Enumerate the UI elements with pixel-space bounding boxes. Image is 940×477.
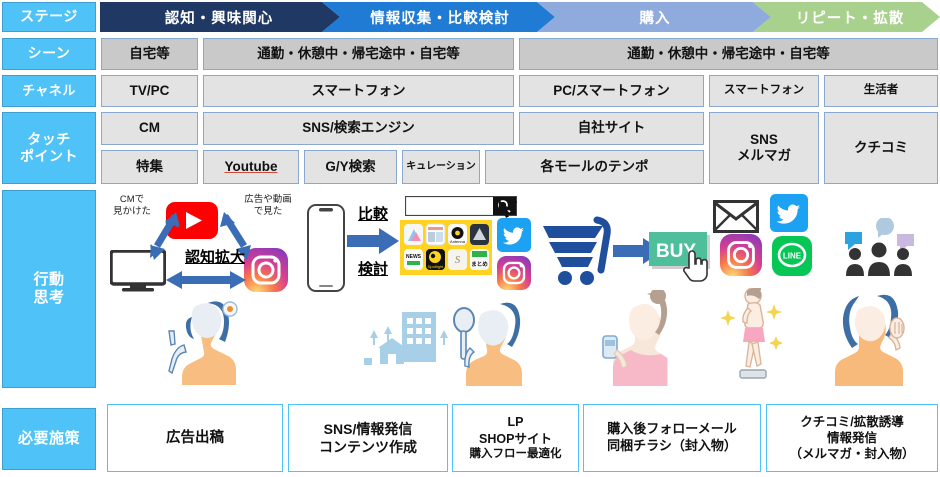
touchpoint-sns-mailmag: SNS メルマガ xyxy=(709,112,819,184)
arrow-tv-to-instagram xyxy=(166,270,246,290)
scene-cell-3: 通勤・休憩中・帰宅途中・自宅等 xyxy=(519,38,938,70)
line-icon: LINE xyxy=(772,236,812,276)
scene-cell-1: 自宅等 xyxy=(101,38,198,70)
stage-title-4: リピート・拡散 xyxy=(760,2,940,32)
channel-cell-2: スマートフォン xyxy=(203,75,514,107)
touchpoint-curation: キュレーション xyxy=(402,150,480,184)
touchpoint-sns-mailmag-line2: メルマガ xyxy=(737,148,791,164)
illustration-drink-woman xyxy=(595,290,675,386)
caption-compare: 比較 xyxy=(348,203,398,224)
arrow-phone-to-apps xyxy=(347,228,399,254)
svg-text:LINE: LINE xyxy=(783,252,802,261)
touchpoint-own-site: 自社サイト xyxy=(519,112,704,145)
touchpoint-malls: 各モールのテンポ xyxy=(485,150,704,184)
journey-map: ステージ 認知・興味関心 情報収集・比較検討 購入 リピート・拡散 シーン 自宅… xyxy=(0,0,940,477)
channel-cell-3: PC/スマートフォン xyxy=(519,75,704,107)
instagram-icon-3 xyxy=(720,234,762,276)
envelope-icon xyxy=(713,200,759,233)
illustration-mirror-woman xyxy=(448,298,526,386)
measure-cell-5-line3: （メルマガ・封入物） xyxy=(789,446,914,462)
measure-cell-4-line2: 同梱チラシ（封入物） xyxy=(607,438,737,455)
touchpoint-cm: CM xyxy=(101,112,198,145)
caption-awareness-expansion: 認知拡大 xyxy=(178,246,252,267)
instagram-icon-2 xyxy=(497,256,531,290)
measure-cell-2: SNS/情報発信 コンテンツ作成 xyxy=(288,404,448,472)
row-label-behaviour-line2: 思考 xyxy=(33,289,64,307)
measure-cell-2-line2: コンテンツ作成 xyxy=(319,438,417,456)
row-label-touchpoint-line2: ポイント xyxy=(20,148,78,165)
measure-cell-5: クチコミ/拡散誘導 情報発信 （メルマガ・封入物） xyxy=(766,404,938,472)
illustration-city-buildings xyxy=(362,308,452,386)
smartphone-icon xyxy=(307,204,345,292)
stage-title-1: 認知・興味関心 xyxy=(104,2,334,32)
illustration-whisper-woman xyxy=(825,290,911,386)
measure-cell-2-line1: SNS/情報発信 xyxy=(324,420,413,438)
svg-text:Antenna: Antenna xyxy=(450,239,466,244)
touchpoint-feature: 特集 xyxy=(101,150,198,184)
touchpoint-word-of-mouth-real: クチコミ xyxy=(824,112,938,184)
row-label-touchpoint: タッチ ポイント xyxy=(2,112,96,184)
measure-cell-4-line1: 購入後フォローメール xyxy=(607,421,736,438)
behaviour-canvas: CMで 見かけた 広告や動画 で見た xyxy=(100,190,940,388)
row-label-measure: 必要施策 xyxy=(2,408,96,470)
row-label-behaviour-line1: 行動 xyxy=(33,271,64,289)
touchpoint-sns-mailmag-line1: SNS xyxy=(750,132,778,148)
touchpoint-sns-search: SNS/検索エンジン xyxy=(203,112,514,145)
measure-cell-1-line1: 広告出稿 xyxy=(166,430,224,446)
twitter-icon-2 xyxy=(770,194,808,232)
app-grid-icon: Antenna NEWS Spotlight S まとめ xyxy=(400,220,492,275)
measure-cell-3-line3: 購入フロー最適化 xyxy=(470,447,562,462)
people-chat-icon xyxy=(845,218,915,276)
hand-cursor-icon xyxy=(680,248,708,282)
measure-cell-1: 広告出稿 xyxy=(107,404,283,472)
row-label-touchpoint-line1: タッチ xyxy=(27,131,71,148)
touchpoint-youtube-label: Youtube xyxy=(225,159,278,175)
caption-consider: 検討 xyxy=(348,258,398,279)
stage-title-2: 情報収集・比較検討 xyxy=(330,2,550,32)
svg-text:Spotlight: Spotlight xyxy=(428,264,444,269)
row-label-channel: チャネル xyxy=(2,75,96,107)
measure-cell-4: 購入後フォローメール 同梱チラシ（封入物） xyxy=(583,404,761,472)
shopping-cart-icon xyxy=(537,216,613,286)
measure-cell-5-line1: クチコミ/拡散誘導 xyxy=(800,414,903,430)
arrow-tv-to-youtube xyxy=(148,212,180,260)
svg-text:まとめ: まとめ xyxy=(471,260,488,268)
measure-cell-3: LP SHOPサイト 購入フロー最適化 xyxy=(452,404,579,472)
row-label-stage: ステージ xyxy=(2,2,96,32)
touchpoint-gy-search: G/Y検索 xyxy=(304,150,397,184)
touchpoint-youtube: Youtube xyxy=(203,150,299,184)
scene-cell-2: 通勤・休憩中・帰宅途中・自宅等 xyxy=(203,38,514,70)
channel-cell-5: 生活者 xyxy=(824,75,938,107)
svg-text:NEWS: NEWS xyxy=(406,254,422,260)
channel-cell-1: TV/PC xyxy=(101,75,198,107)
row-label-scene: シーン xyxy=(2,38,96,70)
measure-cell-3-line2: SHOPサイト xyxy=(479,431,552,447)
row-label-behaviour: 行動 思考 xyxy=(2,190,96,388)
illustration-pointing-woman xyxy=(160,295,240,385)
twitter-icon xyxy=(497,218,531,252)
cursor-icon xyxy=(496,198,518,220)
illustration-scale-woman xyxy=(718,288,788,386)
measure-cell-3-line1: LP xyxy=(508,414,524,430)
channel-cell-4: スマートフォン xyxy=(709,75,819,107)
svg-text:S: S xyxy=(455,254,461,266)
stage-title-3: 購入 xyxy=(545,2,765,32)
measure-cell-5-line2: 情報発信 xyxy=(827,430,877,446)
